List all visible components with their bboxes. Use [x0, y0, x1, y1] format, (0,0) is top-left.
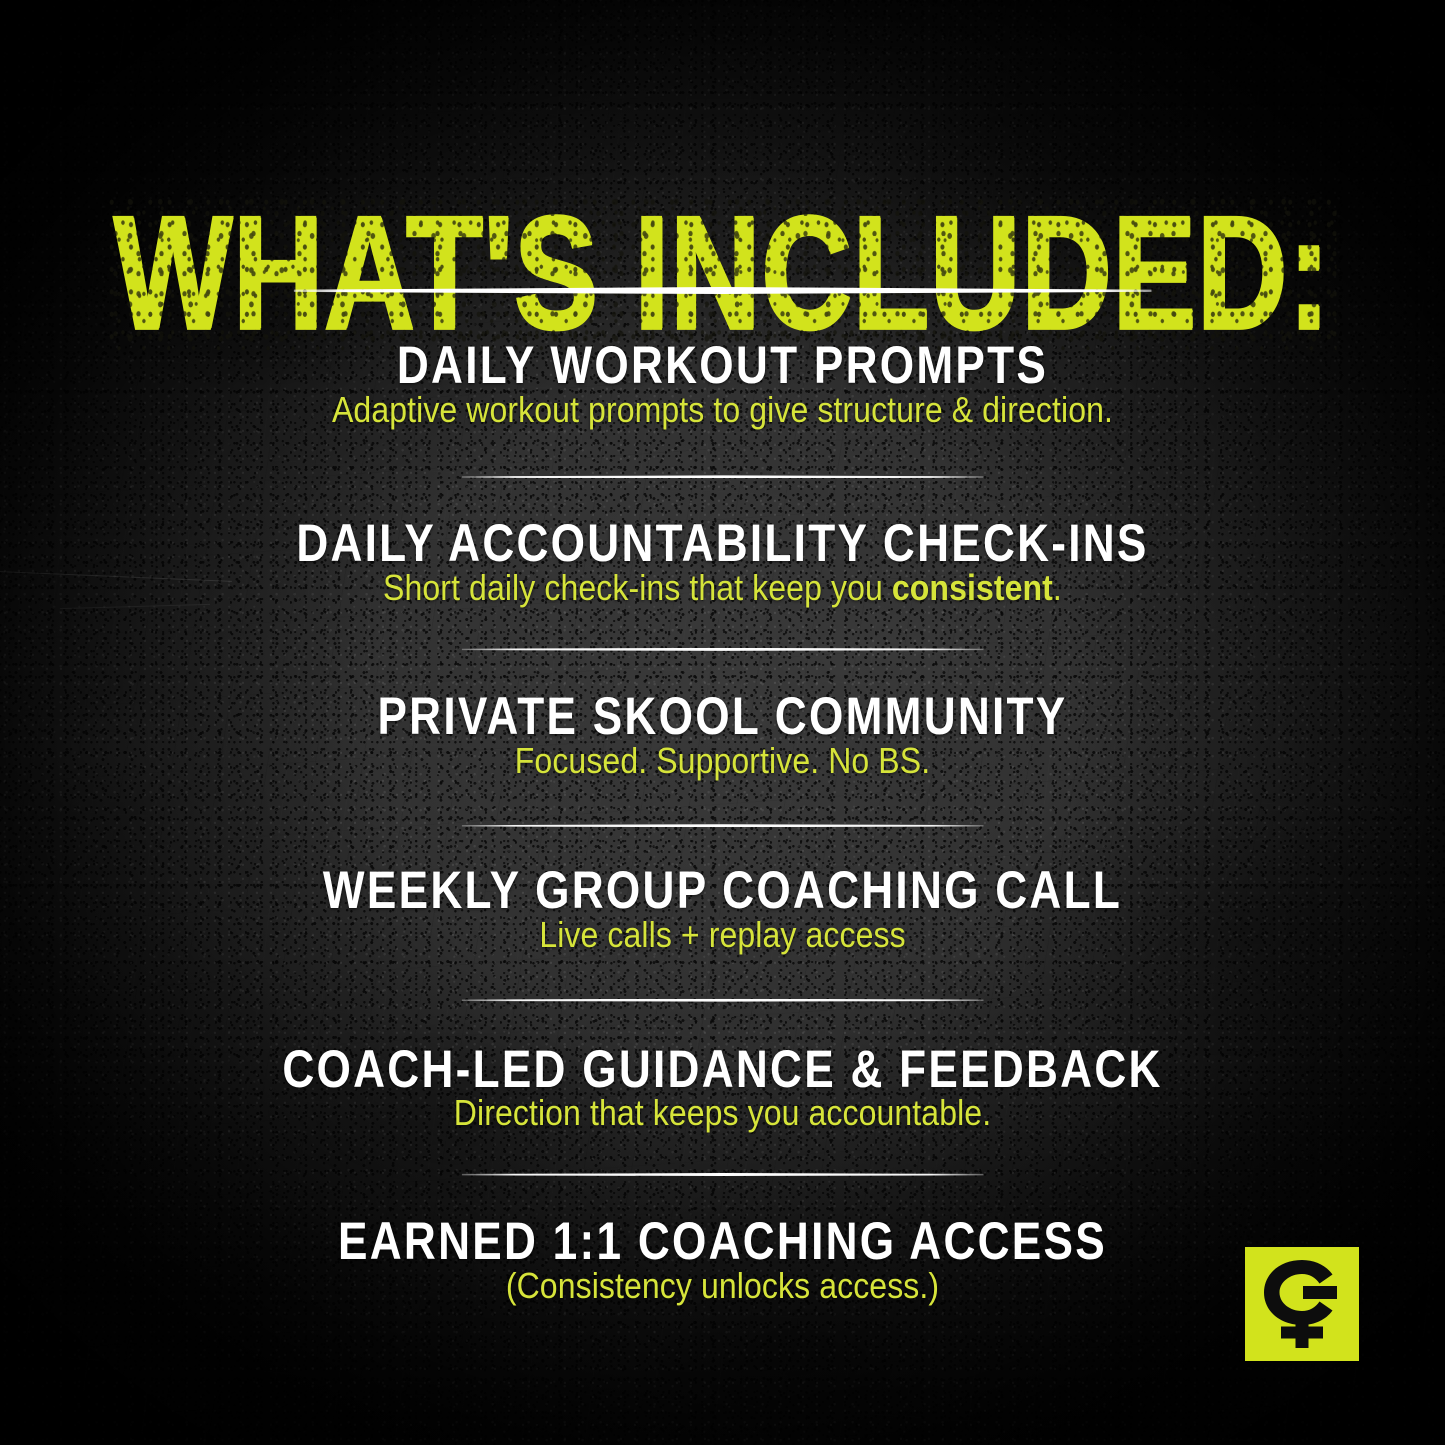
list-item: WEEKLY GROUP COACHING CALL Live calls + … [0, 865, 1445, 954]
feature-heading: WEEKLY GROUP COACHING CALL [43, 862, 1401, 918]
feature-heading: COACH-LED GUIDANCE & FEEDBACK [43, 1041, 1401, 1097]
feature-subtitle: Live calls + replay access [22, 913, 1424, 957]
feature-subtitle: Short daily check-ins that keep you cons… [22, 566, 1424, 610]
poster-content: WHAT'S INCLUDED: DAILY WORKOUT PROMPTS A… [0, 0, 1445, 1445]
feature-subtitle: (Consistency unlocks access.) [22, 1264, 1424, 1308]
list-item: DAILY WORKOUT PROMPTS Adaptive workout p… [0, 340, 1445, 429]
feature-list: DAILY WORKOUT PROMPTS Adaptive workout p… [0, 340, 1445, 1305]
feature-subtitle-pre: Direction that keeps you accountable. [454, 1093, 991, 1134]
feature-subtitle: Direction that keeps you accountable. [22, 1091, 1424, 1135]
list-item: COACH-LED GUIDANCE & FEEDBACK Direction … [0, 1044, 1445, 1133]
feature-subtitle: Adaptive workout prompts to give structu… [22, 388, 1424, 432]
feature-subtitle-pre: (Consistency unlocks access.) [506, 1265, 939, 1306]
feature-subtitle-pre: Live calls + replay access [539, 914, 905, 955]
poster-canvas: WHAT'S INCLUDED: DAILY WORKOUT PROMPTS A… [0, 0, 1445, 1445]
page-title: WHAT'S INCLUDED: [114, 203, 1331, 344]
feature-heading: PRIVATE SKOOL COMMUNITY [43, 688, 1401, 744]
feature-subtitle-emphasis: consistent [892, 567, 1053, 608]
list-item: PRIVATE SKOOL COMMUNITY Focused. Support… [0, 691, 1445, 780]
g-venus-symbol-logo-icon [1259, 1258, 1345, 1350]
feature-subtitle: Focused. Supportive. No BS. [22, 739, 1424, 783]
brand-logo[interactable] [1245, 1247, 1359, 1361]
list-item: DAILY ACCOUNTABILITY CHECK-INS Short dai… [0, 518, 1445, 607]
feature-subtitle-pre: Focused. Supportive. No BS. [515, 740, 930, 781]
feature-subtitle-pre: Short daily check-ins that keep you [383, 567, 892, 608]
feature-subtitle-post: . [1053, 567, 1062, 608]
list-item: EARNED 1:1 COACHING ACCESS (Consistency … [0, 1216, 1445, 1305]
feature-heading: EARNED 1:1 COACHING ACCESS [43, 1213, 1401, 1269]
feature-heading: DAILY WORKOUT PROMPTS [43, 337, 1401, 393]
feature-heading: DAILY ACCOUNTABILITY CHECK-INS [43, 515, 1401, 571]
feature-subtitle-pre: Adaptive workout prompts to give structu… [332, 389, 1113, 430]
